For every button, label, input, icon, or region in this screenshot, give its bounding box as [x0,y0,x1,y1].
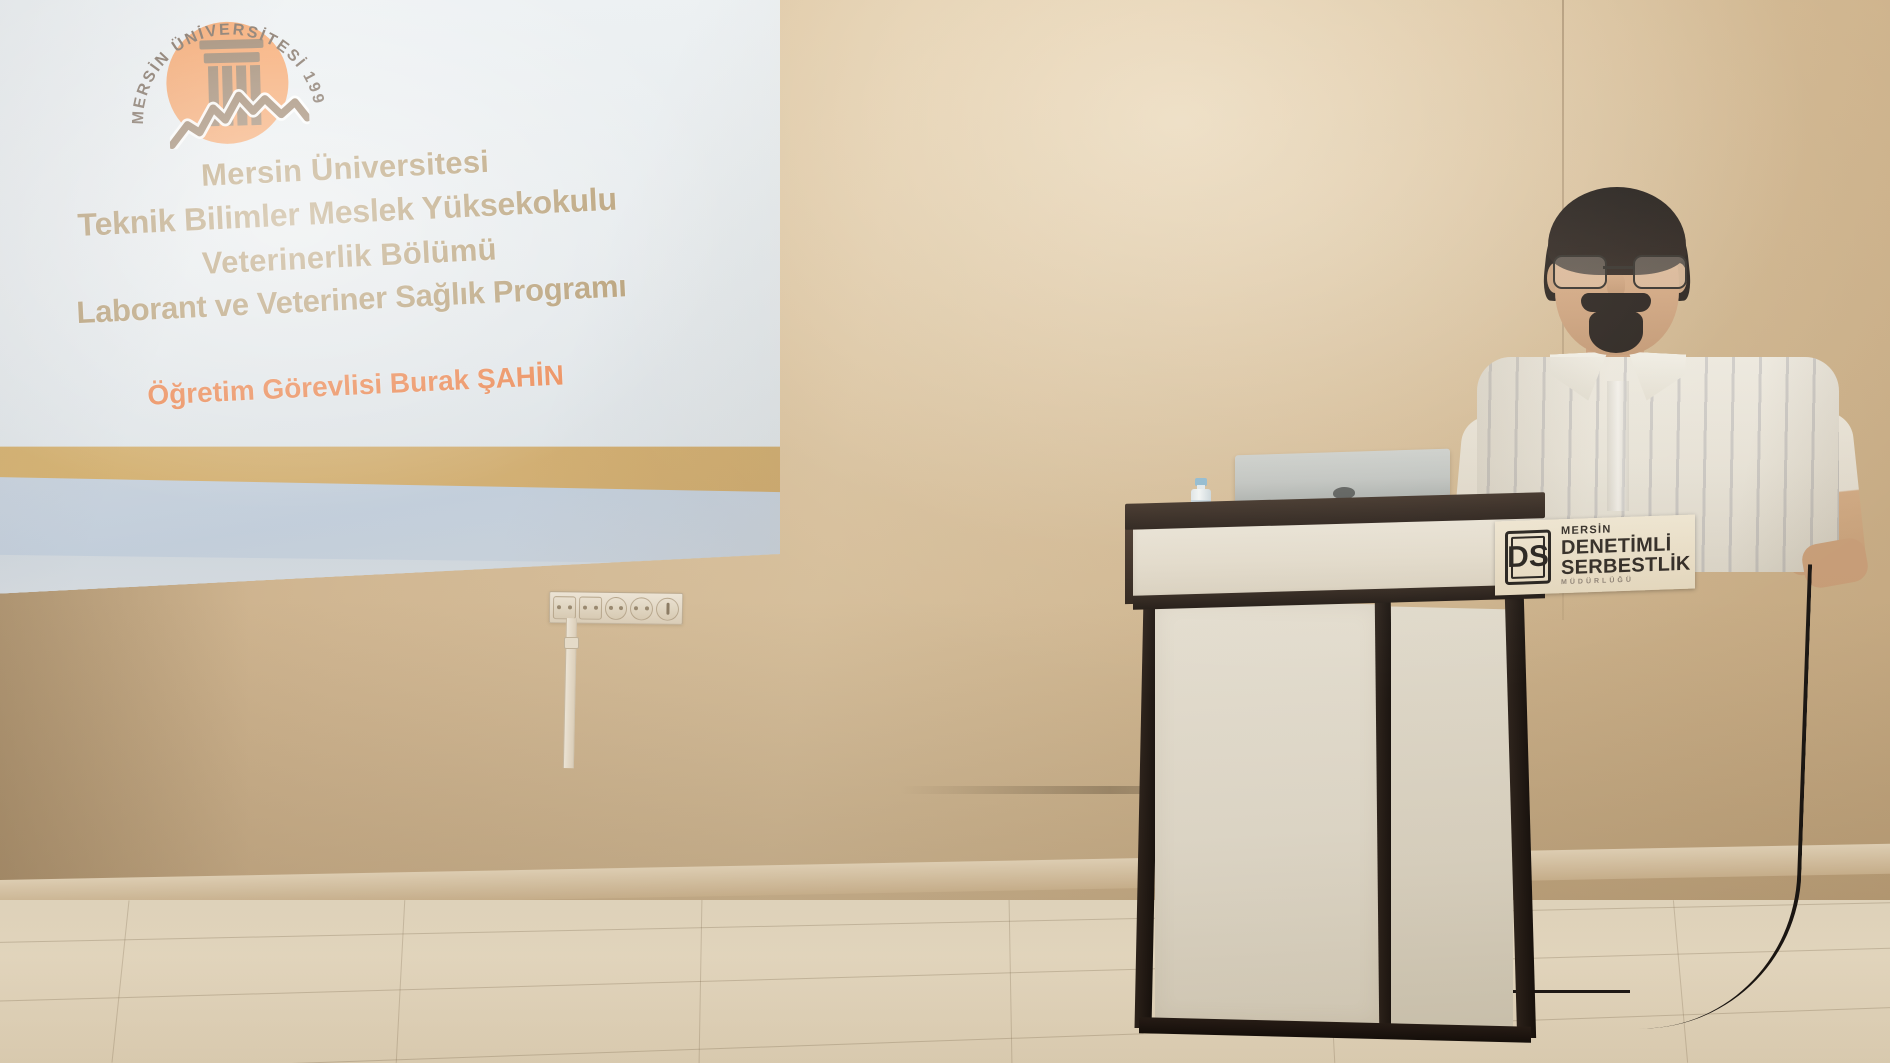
projection-screen: MERSİN ÜNİVERSİTESİ 1992 Mersin Üniversi… [0,0,780,594]
logo-arc-text: MERSİN ÜNİVERSİTESİ 1992 [116,0,338,171]
socket-3 [604,596,627,619]
lectern-front-panel [1155,600,1379,1025]
mersin-universitesi-logo: MERSİN ÜNİVERSİTESİ 1992 [116,0,338,171]
lecture-room-photo: MERSİN ÜNİVERSİTESİ 1992 Mersin Üniversi… [0,0,1890,1063]
socket-5 [656,597,679,620]
slide-presenter-name: Öğretim Görevlisi Burak ŞAHİN [5,353,706,419]
ds-monogram-text: DS [1507,542,1549,573]
goatee [1589,311,1643,353]
svg-text:MERSİN ÜNİVERSİTESİ 1992: MERSİN ÜNİVERSİTESİ 1992 [116,0,328,126]
lens-right [1633,255,1687,289]
socket-1 [553,596,576,619]
socket-2 [579,596,602,619]
glasses-bridge [1603,266,1633,269]
socket-4 [630,597,653,620]
slide-title-block: Mersin Üniversitesi Teknik Bilimler Mesl… [0,132,706,419]
lectern-side-panel [1391,607,1513,1028]
lectern: DS MERSİN DENETİMLİ SERBESTLİK MÜDÜRLÜĞÜ [1125,498,1555,1063]
moustache [1581,293,1651,312]
cable-trunking-clip [564,637,579,649]
slide-content: MERSİN ÜNİVERSİTESİ 1992 Mersin Üniversi… [0,0,795,594]
lens-left [1553,255,1607,289]
ds-monogram-icon: DS [1505,530,1551,586]
